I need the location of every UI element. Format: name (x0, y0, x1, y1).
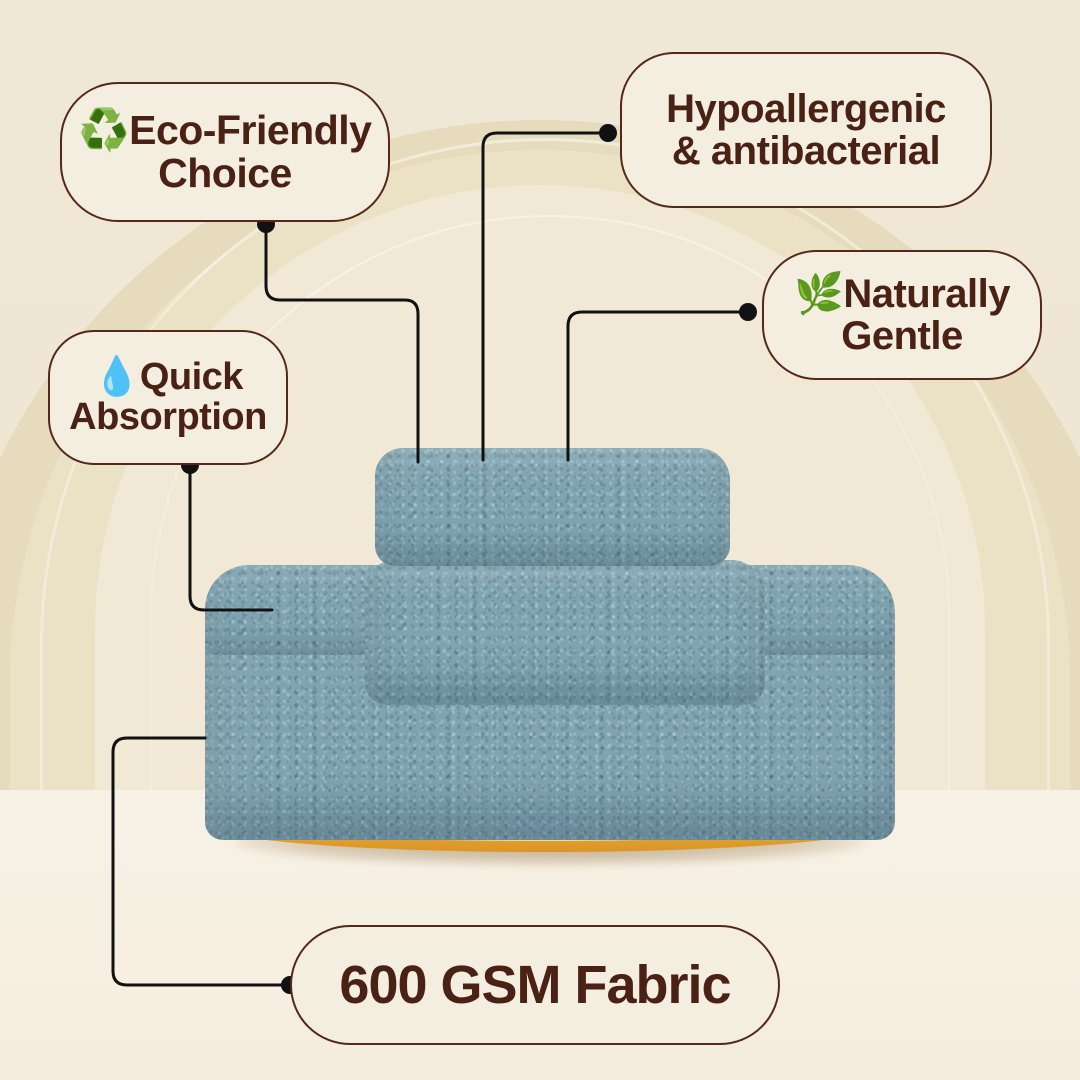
feature-pill-naturally-gentle[interactable]: 🌿NaturallyGentle (762, 250, 1042, 380)
feature-line-2: & antibacterial (672, 129, 940, 173)
infographic-canvas: ♻️Eco-FriendlyChoice Hypoallergenic& ant… (0, 0, 1080, 1080)
connector-hypoallergenic (483, 133, 606, 460)
connector-eco-friendly (266, 226, 418, 462)
feature-line-2: Choice (158, 150, 292, 196)
water-droplet-icon: 💧 (93, 354, 140, 398)
connector-gsm-fabric (113, 738, 288, 985)
feature-pill-eco-friendly[interactable]: ♻️Eco-FriendlyChoice (60, 82, 390, 222)
feature-line-1: Quick (140, 356, 243, 398)
connector-quick-absorption (190, 467, 272, 610)
feature-line-2: Absorption (69, 396, 267, 438)
feature-pill-quick-absorption[interactable]: 💧QuickAbsorption (48, 330, 288, 465)
feature-line-1: Naturally (843, 272, 1010, 316)
feature-line-1: Eco-Friendly (129, 107, 371, 153)
connector-dot-naturally-gentle (739, 303, 757, 321)
connector-dot-hypoallergenic (599, 124, 617, 142)
herb-icon: 🌿 (794, 271, 843, 317)
recycle-icon: ♻️ (79, 106, 130, 154)
feature-label-gsm-fabric: 600 GSM Fabric (329, 957, 740, 1014)
feature-label-naturally-gentle: 🌿NaturallyGentle (784, 273, 1020, 357)
feature-pill-gsm-fabric[interactable]: 600 GSM Fabric (290, 925, 780, 1045)
feature-label-eco-friendly: ♻️Eco-FriendlyChoice (69, 109, 382, 195)
feature-line-1: Hypoallergenic (666, 87, 946, 131)
connector-naturally-gentle (568, 312, 746, 460)
feature-pill-hypoallergenic[interactable]: Hypoallergenic& antibacterial (620, 52, 992, 208)
feature-line-2: Gentle (841, 314, 962, 358)
feature-label-quick-absorption: 💧QuickAbsorption (59, 357, 277, 438)
feature-label-hypoallergenic: Hypoallergenic& antibacterial (656, 88, 956, 172)
